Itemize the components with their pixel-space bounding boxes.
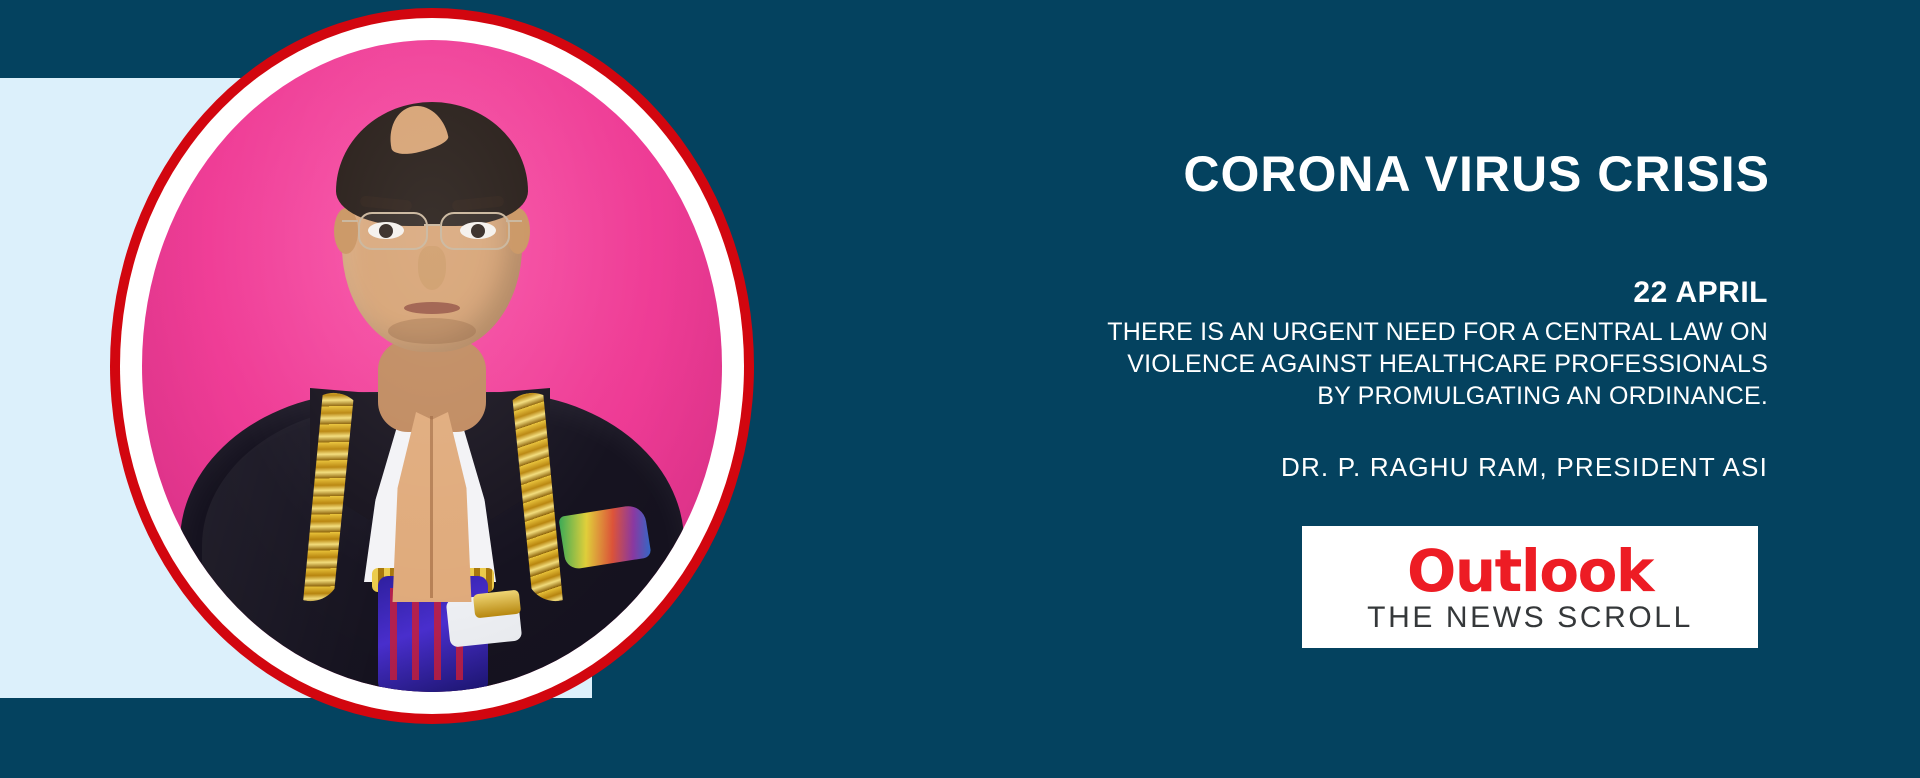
namaste-hands: [390, 412, 474, 602]
outlook-tagline: THE NEWS SCROLL: [1367, 602, 1693, 634]
chin-shadow: [388, 318, 476, 344]
hand-left: [390, 412, 432, 602]
glasses-temple-left: [342, 220, 358, 222]
dateline: 22 APRIL: [1633, 276, 1768, 310]
glasses-temple-right: [506, 220, 522, 222]
body-line-2: VIOLENCE AGAINST HEALTHCARE PROFESSIONAL…: [868, 348, 1768, 380]
wristwatch: [473, 590, 521, 619]
text-column: CORONA VIRUS CRISIS 22 APRIL THERE IS AN…: [860, 0, 1770, 778]
hand-right: [432, 412, 474, 602]
portrait-figure: [142, 40, 722, 692]
portrait-photo: [142, 40, 722, 692]
news-card-graphic: CORONA VIRUS CRISIS 22 APRIL THERE IS AN…: [0, 0, 1920, 778]
lens-left: [358, 212, 428, 250]
body-line-3: BY PROMULGATING AN ORDINANCE.: [868, 380, 1768, 412]
lens-right: [440, 212, 510, 250]
glasses-bridge: [424, 224, 440, 226]
headline: CORONA VIRUS CRISIS: [1183, 148, 1770, 201]
hands-seam: [430, 416, 433, 598]
attribution: DR. P. RAGHU RAM, PRESIDENT ASI: [1281, 452, 1768, 483]
nose: [418, 246, 446, 290]
outlook-logo: Outlook THE NEWS SCROLL: [1302, 526, 1758, 648]
mouth: [404, 302, 460, 314]
body-text: THERE IS AN URGENT NEED FOR A CENTRAL LA…: [868, 316, 1768, 412]
body-line-1: THERE IS AN URGENT NEED FOR A CENTRAL LA…: [868, 316, 1768, 348]
portrait-medallion: [110, 8, 754, 724]
outlook-wordmark: Outlook: [1407, 543, 1653, 600]
